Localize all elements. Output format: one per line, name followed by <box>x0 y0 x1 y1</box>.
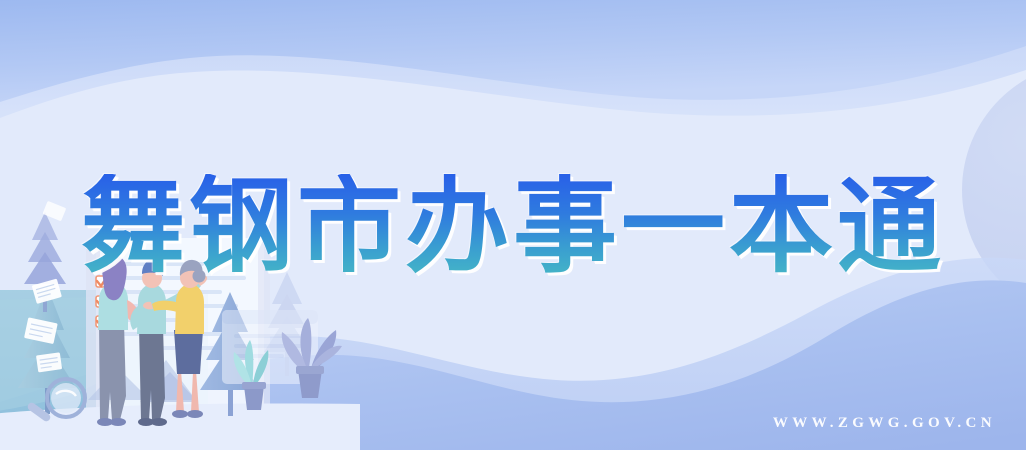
illustration-scene <box>0 0 1026 450</box>
person-left-shoe-b <box>110 418 126 426</box>
page-banner: 舞钢市办事一本通 WWW.ZGWG.GOV.CN <box>0 0 1026 450</box>
person-right-skirt <box>174 330 203 374</box>
person-right-shoe-b <box>187 410 203 418</box>
illustration-group <box>0 201 360 450</box>
person-right-hair-bun <box>193 270 206 283</box>
site-url-text: WWW.ZGWG.GOV.CN <box>773 415 996 432</box>
person-right-shoe-a <box>172 410 188 418</box>
person-middle-legs <box>139 326 165 420</box>
person-middle-shoe-b <box>151 418 167 426</box>
person-left-legs <box>99 322 126 420</box>
person-right-torso <box>175 284 204 334</box>
